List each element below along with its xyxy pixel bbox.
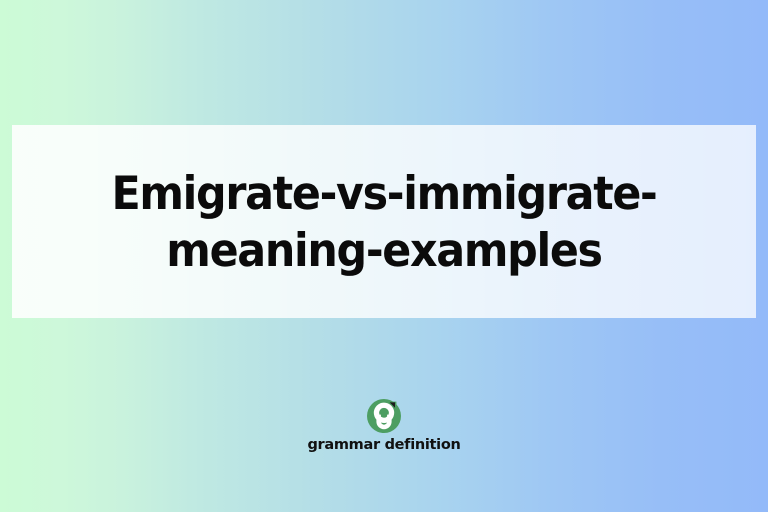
title-card: Emigrate-vs-immigrate-meaning-examples [12,125,756,318]
logo-g-circle-icon [366,398,402,434]
brand-lockup: grammar definition [0,398,768,453]
featured-image-canvas: Emigrate-vs-immigrate-meaning-examples g… [0,0,768,512]
brand-name: grammar definition [307,437,460,453]
page-title: Emigrate-vs-immigrate-meaning-examples [63,165,705,277]
